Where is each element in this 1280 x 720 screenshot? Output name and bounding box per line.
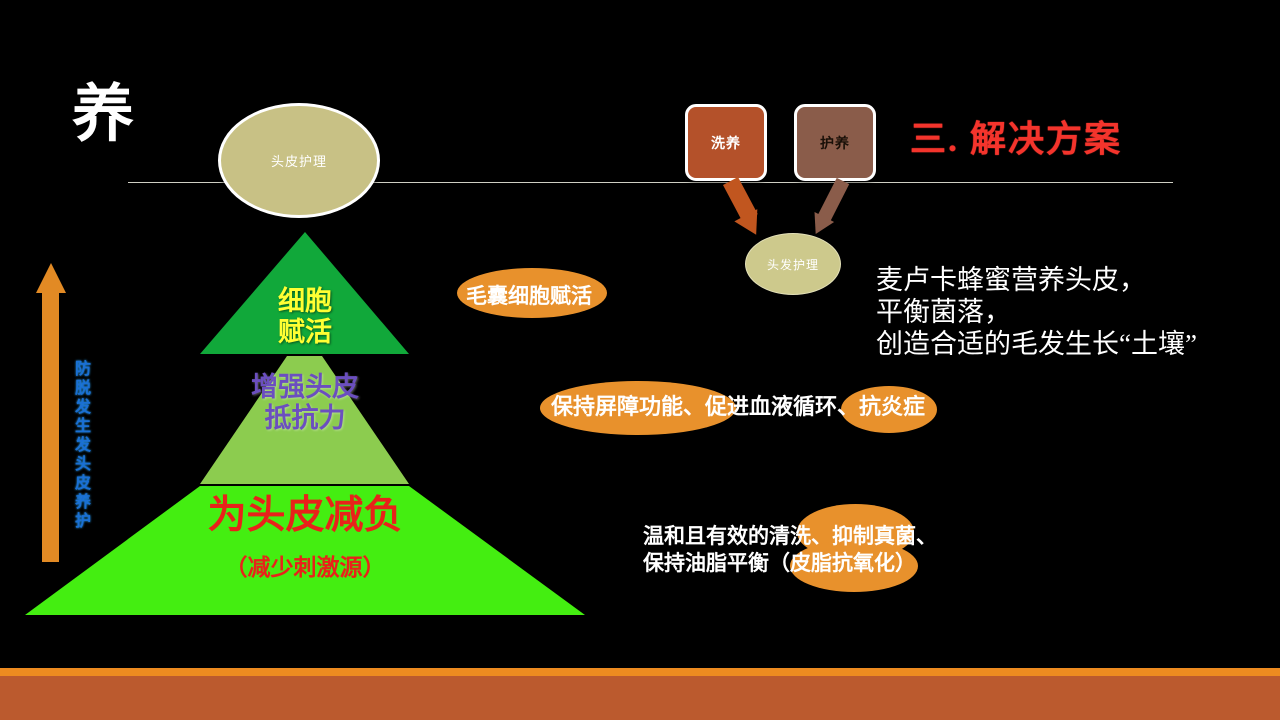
nurture-care-box-label: 护养 (820, 133, 850, 153)
up-arrow-head-icon (36, 263, 66, 293)
pyramid-tier-top-fill (200, 232, 409, 354)
callout-text-barrier: 保持屏障功能、促进血液循环、抗炎症 (551, 393, 925, 422)
vertical-axis-caption: 防脱发生发头皮养护 (66, 360, 88, 531)
wash-care-box-label: 洗养 (711, 133, 741, 153)
hair-care-oval: 头发护理 (745, 233, 841, 295)
right-paragraph-line1: 麦卢卡蜂蜜营养头皮， (876, 265, 1197, 297)
footer-accent-stripe (0, 668, 1280, 676)
slide-canvas: 养 三. 解决方案 头皮护理 洗养 护养 头发护理 细胞 (0, 0, 1280, 720)
callout-text-cleanse-line1: 温和且有效的清洗、抑制真菌、 (643, 523, 937, 550)
pyramid-tier-middle (200, 356, 409, 484)
section-heading: 三. 解决方案 (910, 110, 1122, 162)
scalp-care-oval: 头皮护理 (218, 103, 380, 218)
right-paragraph-line3: 创造合适的毛发生长“土壤” (876, 329, 1197, 361)
wash-care-box[interactable]: 洗养 (685, 104, 767, 181)
footer-band (0, 676, 1280, 720)
scalp-care-oval-label: 头皮护理 (271, 151, 327, 170)
callout-text-cleanse: 温和且有效的清洗、抑制真菌、 保持油脂平衡（皮脂抗氧化） (643, 523, 937, 578)
nurture-care-box[interactable]: 护养 (794, 104, 876, 181)
hair-care-oval-label: 头发护理 (767, 256, 819, 273)
right-paragraph-line2: 平衡菌落， (876, 297, 1197, 329)
right-description-paragraph: 麦卢卡蜂蜜营养头皮， 平衡菌落， 创造合适的毛发生长“土壤” (876, 265, 1197, 361)
pyramid-tier-base-sublabel: （减少刺激源） (20, 548, 590, 582)
callout-text-follicle: 毛囊细胞赋活 (466, 283, 592, 310)
slide-corner-character: 养 (72, 84, 135, 146)
callout-text-cleanse-line2: 保持油脂平衡（皮脂抗氧化） (643, 550, 937, 577)
up-arrow-shaft (42, 290, 59, 562)
